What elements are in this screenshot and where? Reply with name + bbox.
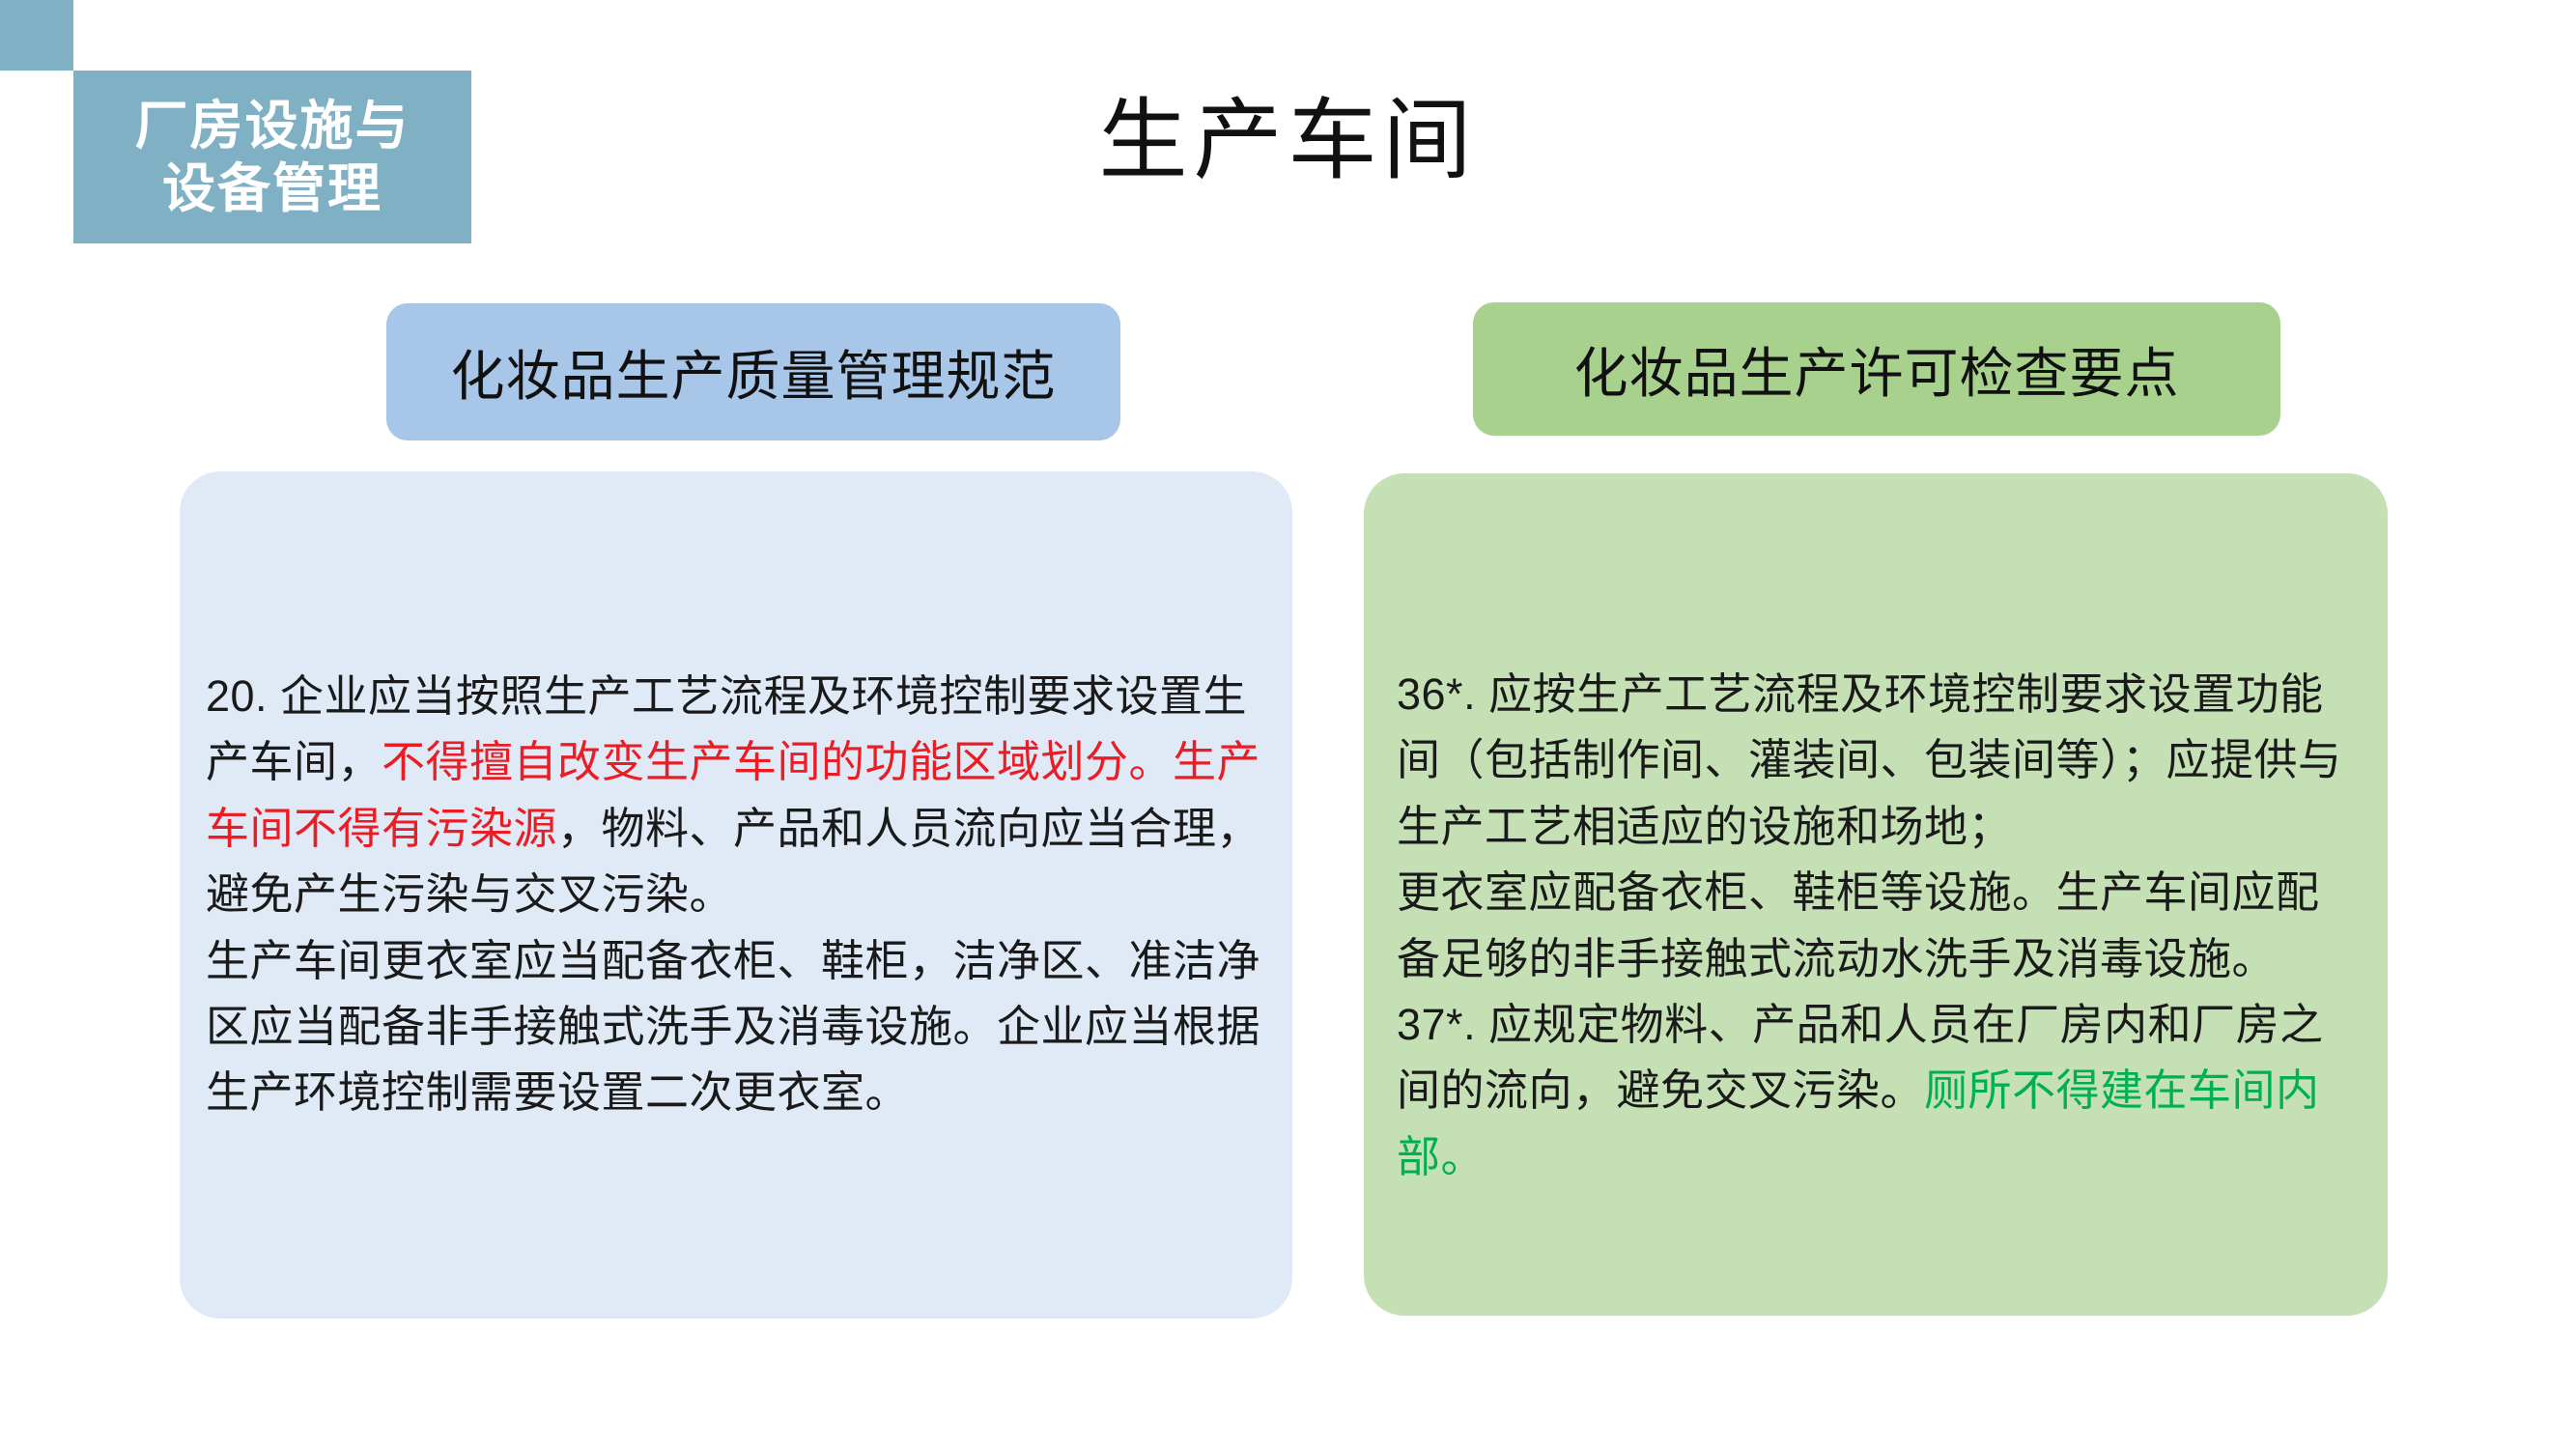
corner-accent-square	[0, 0, 73, 71]
column-header-right: 化妆品生产许可检查要点	[1473, 302, 2280, 436]
content-panel-left: 20. 企业应当按照生产工艺流程及环境控制要求设置生产车间，不得擅自改变生产车间…	[180, 471, 1292, 1319]
text-run-0: 36*. 应按生产工艺流程及环境控制要求设置功能间（包括制作间、灌装间、包装间等…	[1397, 669, 2342, 1115]
text-run-3: 生产车间更衣室应当配备衣柜、鞋柜，洁净区、准洁净区应当配备非手接触式洗手及消毒设…	[206, 936, 1260, 1118]
column-header-right-label: 化妆品生产许可检查要点	[1574, 330, 2180, 409]
column-header-left: 化妆品生产质量管理规范	[386, 303, 1120, 440]
right-panel-text: 36*. 应按生产工艺流程及环境控制要求设置功能间（包括制作间、灌装间、包装间等…	[1397, 662, 2361, 1190]
column-header-left-label: 化妆品生产质量管理规范	[451, 333, 1057, 412]
page-title: 生产车间	[0, 93, 2576, 190]
left-panel-text: 20. 企业应当按照生产工艺流程及环境控制要求设置生产车间，不得擅自改变生产车间…	[206, 664, 1263, 1126]
content-panel-right: 36*. 应按生产工艺流程及环境控制要求设置功能间（包括制作间、灌装间、包装间等…	[1364, 473, 2388, 1316]
